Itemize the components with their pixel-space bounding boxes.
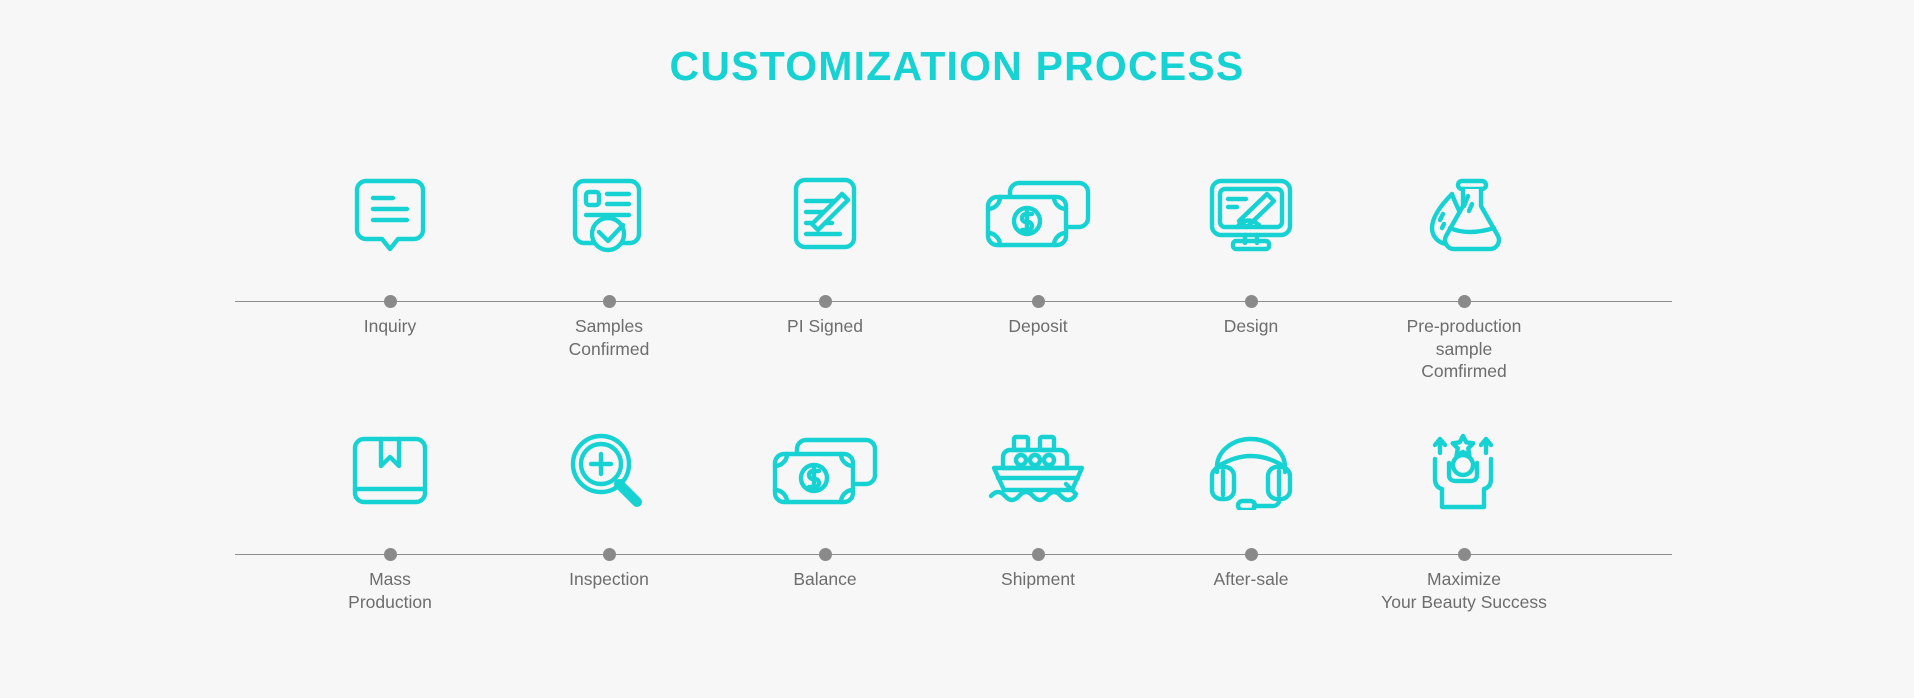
step-label: Samples Confirmed — [499, 315, 719, 360]
step-label: After-sale — [1141, 568, 1361, 591]
step-label: Deposit — [928, 315, 1148, 338]
step-label: PI Signed — [715, 315, 935, 338]
step-design[interactable]: Design — [1141, 160, 1361, 270]
timeline-dot — [819, 295, 832, 308]
lab-flask-icon — [1354, 160, 1574, 270]
step-shipment[interactable]: Shipment — [928, 420, 1148, 524]
timeline-dot — [384, 548, 397, 561]
step-label: Maximize Your Beauty Success — [1354, 568, 1574, 613]
step-label: Inquiry — [280, 315, 500, 338]
step-label: Pre-production sample Comfirmed — [1354, 315, 1574, 383]
monitor-pen-icon — [1141, 160, 1361, 270]
step-label: Balance — [715, 568, 935, 591]
document-signature-icon — [715, 160, 935, 270]
cargo-ship-icon — [928, 420, 1148, 524]
package-box-icon — [280, 420, 500, 524]
timeline-dot — [1032, 295, 1045, 308]
step-samples-confirmed[interactable]: Samples Confirmed — [499, 160, 719, 270]
step-pre-production-sample-confirmed[interactable]: Pre-production sample Comfirmed — [1354, 160, 1574, 270]
magnifier-plus-icon — [499, 420, 719, 524]
banknotes-dollar-icon — [715, 420, 935, 524]
step-label: Inspection — [499, 568, 719, 591]
customization-process-infographic: CUSTOMIZATION PROCESS Inquiry — [0, 0, 1914, 698]
page-title: CUSTOMIZATION PROCESS — [0, 42, 1914, 90]
step-mass-production[interactable]: Mass Production — [280, 420, 500, 524]
step-balance[interactable]: Balance — [715, 420, 935, 524]
timeline-dot — [819, 548, 832, 561]
step-deposit[interactable]: Deposit — [928, 160, 1148, 270]
step-label: Mass Production — [280, 568, 500, 613]
headset-icon — [1141, 420, 1361, 524]
timeline-dot — [1458, 548, 1471, 561]
step-inspection[interactable]: Inspection — [499, 420, 719, 524]
step-label: Shipment — [928, 568, 1148, 591]
step-after-sale[interactable]: After-sale — [1141, 420, 1361, 524]
chat-bubble-icon — [280, 160, 500, 270]
step-pi-signed[interactable]: PI Signed — [715, 160, 935, 270]
timeline-dot — [603, 295, 616, 308]
banknotes-dollar-icon — [928, 160, 1148, 270]
timeline-dot — [1245, 295, 1258, 308]
timeline-dot — [384, 295, 397, 308]
timeline-dot — [1458, 295, 1471, 308]
timeline-dot — [1245, 548, 1258, 561]
timeline-dot — [603, 548, 616, 561]
certificate-check-icon — [499, 160, 719, 270]
step-inquiry[interactable]: Inquiry — [280, 160, 500, 270]
step-label: Design — [1141, 315, 1361, 338]
timeline-dot — [1032, 548, 1045, 561]
step-maximize-your-beauty-success[interactable]: Maximize Your Beauty Success — [1354, 420, 1574, 524]
person-star-arrows-icon — [1354, 420, 1574, 524]
